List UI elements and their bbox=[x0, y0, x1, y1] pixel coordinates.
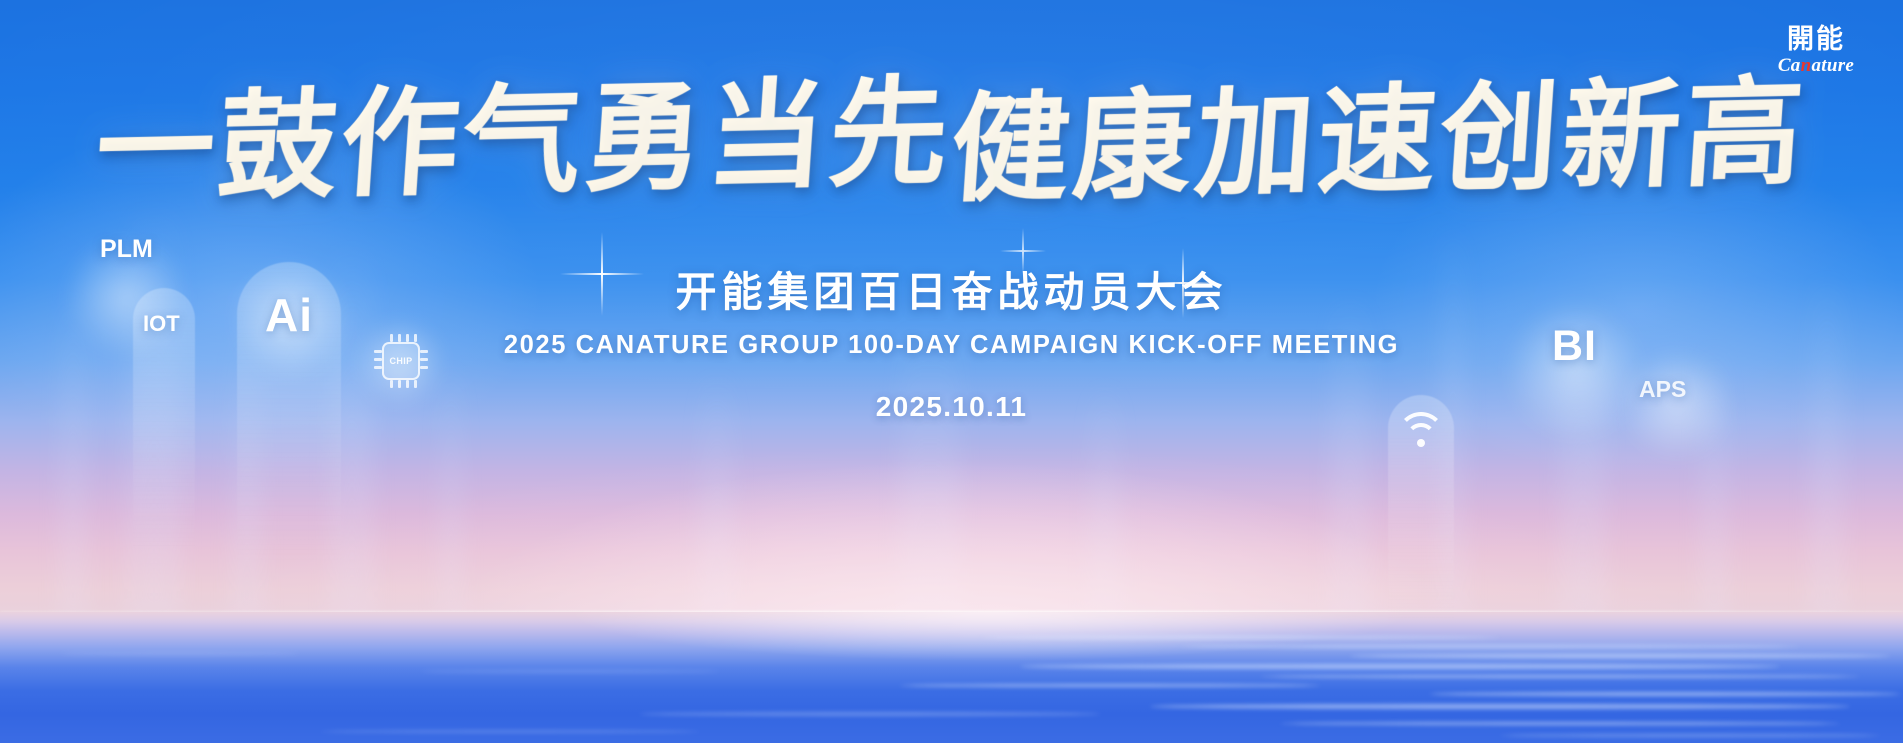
event-banner: 開能 Canature PLM IOT Ai CHIP bbox=[0, 0, 1903, 743]
event-date: 2025.10.11 bbox=[0, 393, 1903, 421]
main-title: 一鼓作气勇当先健康加速创新高 bbox=[0, 80, 1903, 204]
subtitle-english: 2025 CANATURE GROUP 100-DAY CAMPAIGN KIC… bbox=[0, 333, 1903, 359]
water-surface bbox=[0, 612, 1903, 743]
logo-chinese-mark: 開能 bbox=[1751, 26, 1881, 53]
main-title-line-2: 健康加速创新高 bbox=[947, 71, 1811, 213]
main-title-line-1: 一鼓作气勇当先 bbox=[93, 71, 957, 213]
water-specular-highlight bbox=[0, 612, 1903, 743]
logo-wordmark-suffix: ature bbox=[1811, 55, 1854, 76]
subtitle-block: 开能集团百日奋战动员大会 2025 CANATURE GROUP 100-DAY… bbox=[0, 272, 1903, 421]
tech-badge-plm[interactable]: PLM bbox=[100, 237, 153, 262]
subtitle-chinese: 开能集团百日奋战动员大会 bbox=[0, 272, 1903, 313]
